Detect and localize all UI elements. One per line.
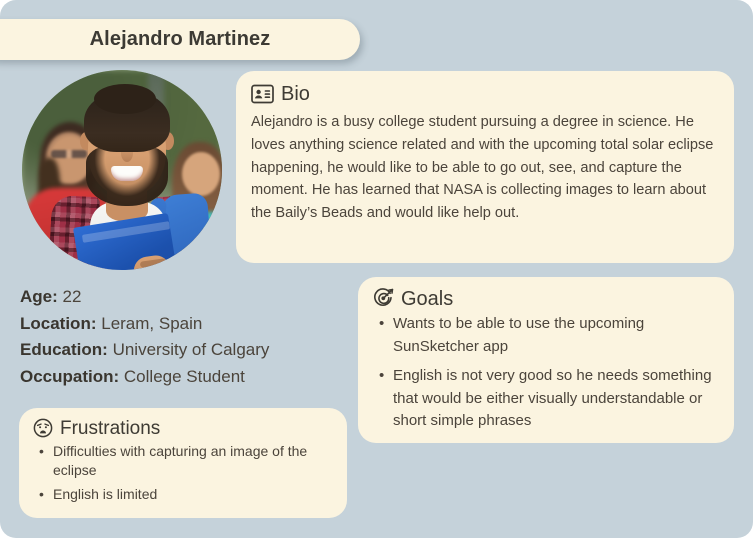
page-title: Alejandro Martinez [90, 28, 271, 51]
frustrations-card-title: Frustrations [33, 418, 333, 438]
demographics-row-location: Location: Leram, Spain [20, 311, 350, 338]
age-label: Age: [20, 287, 58, 306]
frustrations-list: Difficulties with capturing an image of … [33, 442, 333, 504]
demographics-row-age: Age: 22 [20, 284, 350, 311]
avatar-smile [111, 166, 143, 181]
persona-name-banner: Alejandro Martinez [0, 19, 360, 60]
bio-text: Alejandro is a busy college student purs… [251, 111, 718, 225]
anguished-face-icon [33, 418, 53, 438]
location-label: Location: [20, 314, 97, 333]
list-item: Wants to be able to use the upcoming Sun… [373, 313, 718, 358]
occupation-value: College Student [124, 367, 245, 386]
frustrations-title-label: Frustrations [60, 419, 160, 438]
bio-title-label: Bio [281, 84, 310, 104]
avatar-bystander-right-face [182, 152, 220, 196]
avatar-hair-top [94, 84, 156, 114]
list-item: English is not very good so he needs som… [373, 365, 718, 433]
goals-card: Goals Wants to be able to use the upcomi… [358, 277, 734, 443]
bio-card-title: Bio [251, 84, 718, 104]
goals-title-label: Goals [401, 289, 453, 309]
goals-card-title: Goals [373, 288, 718, 309]
frustrations-card: Frustrations Difficulties with capturing… [19, 408, 347, 518]
avatar [22, 70, 222, 270]
demographics-list: Age: 22 Location: Leram, Spain Education… [20, 284, 350, 390]
bio-card: Bio Alejandro is a busy college student … [236, 71, 734, 263]
demographics-row-education: Education: University of Calgary [20, 337, 350, 364]
persona-card: Alejandro Martinez [0, 0, 753, 538]
id-card-icon [251, 84, 274, 104]
occupation-label: Occupation: [20, 367, 119, 386]
education-label: Education: [20, 340, 108, 359]
goals-list: Wants to be able to use the upcoming Sun… [373, 313, 718, 433]
avatar-bystander-left-glasses [51, 150, 87, 158]
list-item: Difficulties with capturing an image of … [33, 442, 333, 480]
target-icon [373, 288, 394, 309]
avatar-photo [22, 70, 222, 270]
list-item: English is limited [33, 485, 333, 504]
location-value: Leram, Spain [101, 314, 202, 333]
age-value: 22 [63, 287, 82, 306]
demographics-row-occupation: Occupation: College Student [20, 364, 350, 391]
education-value: University of Calgary [113, 340, 270, 359]
